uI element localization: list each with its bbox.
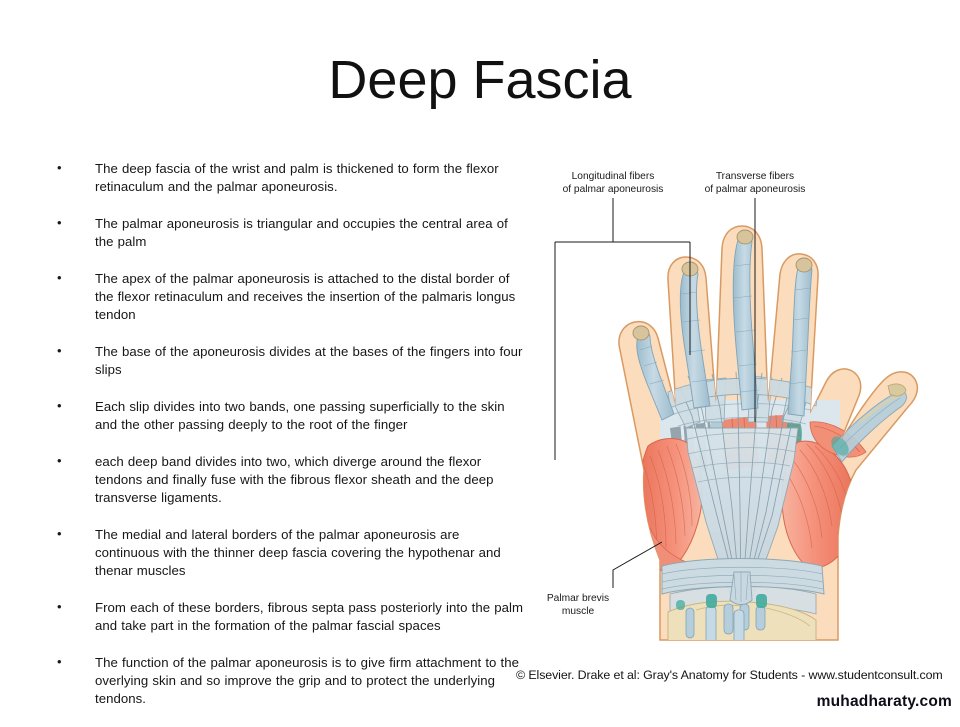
list-item: • The palmar aponeurosis is triangular a… <box>54 215 524 251</box>
list-item: • The deep fascia of the wrist and palm … <box>54 160 524 196</box>
list-item-text: The base of the aponeurosis divides at t… <box>95 344 522 377</box>
hand-anatomy-illustration: Longitudinal fibers of palmar aponeurosi… <box>510 170 960 670</box>
figure-credit: © Elsevier. Drake et al: Gray's Anatomy … <box>516 668 960 682</box>
list-item-text: Each slip divides into two bands, one pa… <box>95 399 505 432</box>
label-palmar-brevis-line1: Palmar brevis <box>547 593 609 604</box>
label-transverse-fibers-line1: Transverse fibers <box>716 171 794 182</box>
slide-canvas: Deep Fascia • The deep fascia of the wri… <box>0 0 960 720</box>
bullet-marker: • <box>57 163 65 171</box>
label-longitudinal-fibers-line2: of palmar aponeurosis <box>563 184 664 195</box>
bullet-marker: • <box>57 346 65 354</box>
list-item: • The medial and lateral borders of the … <box>54 526 524 580</box>
list-item-text: The apex of the palmar aponeurosis is at… <box>95 271 515 322</box>
aponeurosis-apex <box>730 572 752 605</box>
bullet-marker: • <box>57 529 65 537</box>
list-item-text: each deep band divides into two, which d… <box>95 454 494 505</box>
page-title: Deep Fascia <box>0 52 960 109</box>
label-transverse-fibers-line2: of palmar aponeurosis <box>705 184 806 195</box>
list-item: • Each slip divides into two bands, one … <box>54 398 524 434</box>
label-palmar-brevis-line2: muscle <box>562 606 595 617</box>
site-watermark: muhadharaty.com <box>817 693 952 711</box>
bullet-marker: • <box>57 456 65 464</box>
list-item-text: From each of these borders, fibrous sept… <box>95 600 523 633</box>
list-item: • The base of the aponeurosis divides at… <box>54 343 524 379</box>
bullet-marker: • <box>57 602 65 610</box>
bullet-marker: • <box>57 273 65 281</box>
bullet-marker: • <box>57 657 65 665</box>
list-item-text: The medial and lateral borders of the pa… <box>95 527 501 578</box>
list-item: • The function of the palmar aponeurosis… <box>54 654 524 708</box>
list-item: • The apex of the palmar aponeurosis is … <box>54 270 524 324</box>
bullet-marker: • <box>57 401 65 409</box>
list-item-text: The deep fascia of the wrist and palm is… <box>95 161 499 194</box>
label-longitudinal-fibers-line1: Longitudinal fibers <box>572 171 655 182</box>
list-item: • each deep band divides into two, which… <box>54 453 524 507</box>
list-item: • From each of these borders, fibrous se… <box>54 599 524 635</box>
list-item-text: The palmar aponeurosis is triangular and… <box>95 216 508 249</box>
list-item-text: The function of the palmar aponeurosis i… <box>95 655 519 706</box>
hand-anatomy-figure: Longitudinal fibers of palmar aponeurosi… <box>510 170 960 670</box>
bullet-marker: • <box>57 218 65 226</box>
bullet-list: • The deep fascia of the wrist and palm … <box>54 160 524 727</box>
